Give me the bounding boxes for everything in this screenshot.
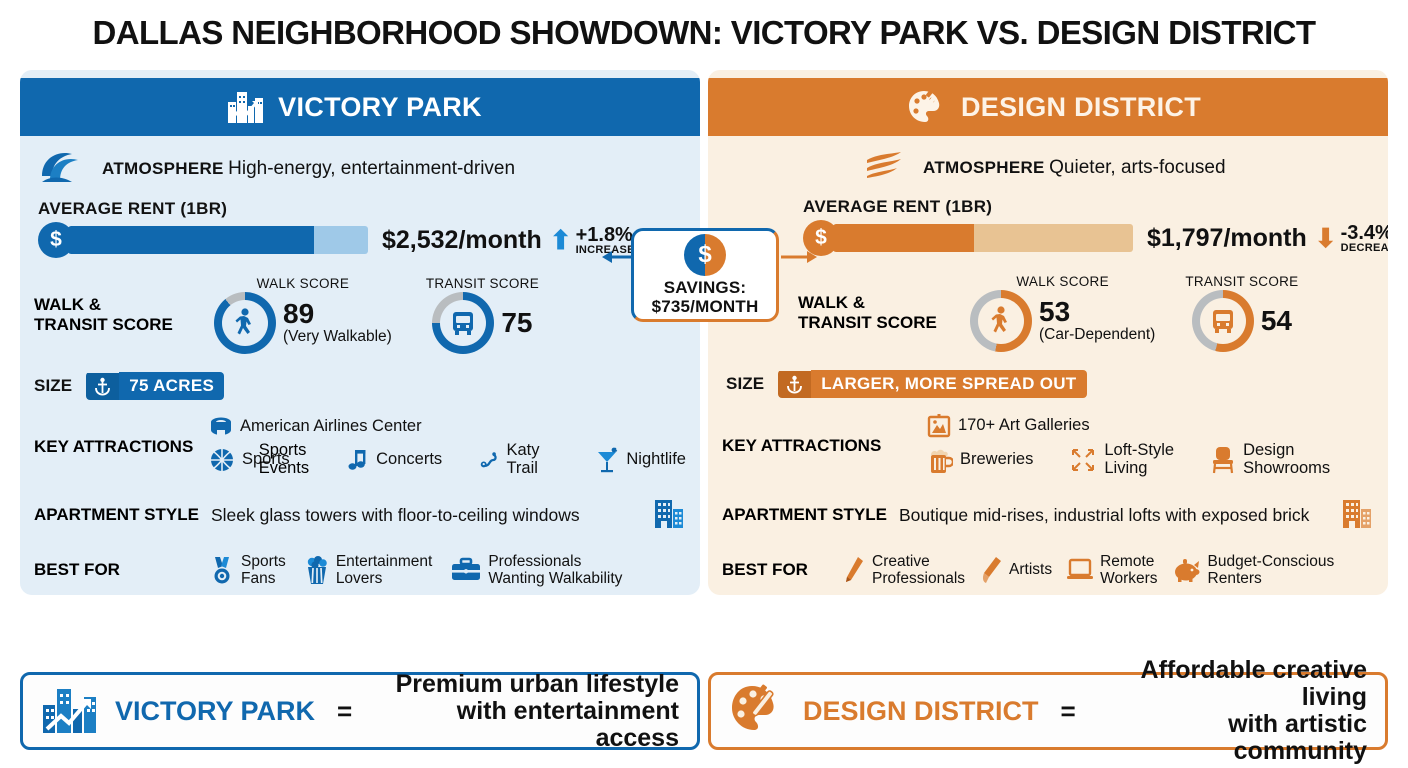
picture-frame-icon (927, 414, 951, 438)
transit-score-left: TRANSIT SCORE (426, 276, 539, 354)
anchor-icon (778, 371, 811, 398)
atmosphere-label-left: ATMOSPHERE (102, 159, 224, 178)
best-for-item: RemoteWorkers (1066, 553, 1157, 587)
rent-value-left: $2,532/month (382, 226, 542, 255)
rent-bar-right (833, 224, 1133, 252)
best-for-item: EntertainmentLovers (304, 553, 433, 587)
attraction-item: Nightlife (595, 447, 686, 473)
armchair-icon (1210, 445, 1236, 475)
size-row-left: SIZE 75 ACRES (20, 364, 700, 408)
palette-brush-icon (907, 89, 949, 125)
rent-trend-right: ⬇ -3.4% DECREASE (1315, 223, 1388, 254)
transit-score-right: TRANSIT SCORE (1185, 274, 1298, 352)
attraction-item: Breweries (927, 446, 1033, 474)
attraction-item: DesignShowrooms (1210, 442, 1330, 478)
atmosphere-row-right: ATMOSPHERE Quieter, arts-focused (708, 136, 1388, 195)
walk-transit-row-left: WALK &TRANSIT SCORE WALK SCORE (20, 268, 700, 364)
basketball-icon (209, 447, 235, 473)
savings-line1: SAVINGS: (664, 278, 747, 297)
attraction-item: American Airlines Center (209, 416, 422, 438)
expand-arrows-icon (1069, 446, 1097, 474)
summary-name-left: VICTORY PARK (115, 696, 315, 727)
size-row-right: SIZE LARGER, MORE SPREAD OUT (708, 362, 1388, 406)
wind-swirl-icon (863, 146, 909, 189)
best-for-row-left: BEST FOR SportsFans (20, 545, 700, 595)
key-attractions-label-left: KEY ATTRACTIONS (34, 437, 209, 457)
atmosphere-row-left: ATMOSPHERE High-energy, entertainment-dr… (20, 136, 700, 197)
savings-badge: $ SAVINGS: $735/MONTH (631, 228, 779, 322)
design-district-summary: DESIGN DISTRICT = Affordable creative li… (708, 672, 1388, 750)
walk-transit-row-right: WALK &TRANSIT SCORE WALK SCORE (708, 266, 1388, 362)
page-title: DALLAS NEIGHBORHOOD SHOWDOWN: VICTORY PA… (0, 14, 1408, 52)
walk-score-desc-left: (Very Walkable) (283, 328, 392, 345)
walk-score-right: WALK SCORE 53 (970, 274, 1155, 352)
attraction-item: Concerts (347, 448, 442, 472)
best-for-row-right: BEST FOR CreativeProfessionals (708, 545, 1388, 595)
rent-trend-pct-right: -3.4% (1341, 223, 1388, 243)
best-for-item: Budget-ConsciousRenters (1172, 553, 1335, 587)
pedestrian-icon (232, 308, 258, 338)
down-arrow-icon: ⬇ (1315, 225, 1337, 251)
design-district-header: DESIGN DISTRICT (708, 78, 1388, 136)
summary-equals-right: = (1061, 696, 1076, 727)
anchor-icon (86, 373, 119, 400)
victory-park-header: VICTORY PARK (20, 78, 700, 136)
walk-score-desc-right: (Car-Dependent) (1039, 326, 1155, 343)
savings-arrow-right (779, 246, 819, 268)
size-label-left: SIZE (34, 376, 72, 396)
city-skyline-chart-icon (226, 89, 266, 125)
size-chip-left: 75 ACRES (86, 372, 224, 400)
transit-score-value-right: 54 (1261, 307, 1292, 335)
walk-score-donut-right (970, 290, 1032, 352)
beer-mug-icon (927, 446, 953, 474)
atmosphere-label-right: ATMOSPHERE (923, 158, 1045, 177)
walk-score-left: WALK SCORE 89 (214, 276, 392, 354)
apartment-style-value-right: Boutique mid-rises, industrial lofts wit… (899, 505, 1340, 526)
walk-score-value-right: 53 (1039, 296, 1070, 327)
bus-icon (1208, 306, 1238, 336)
trail-map-icon (480, 448, 499, 472)
rent-trend-pct-left: +1.8% (576, 225, 635, 245)
rent-trend-label-right: DECREASE (1341, 243, 1388, 254)
design-district-panel: DESIGN DISTRICT ATMOSPHERE Quieter, arts… (708, 70, 1388, 595)
rent-label-left: AVERAGE RENT (1BR) (38, 199, 682, 219)
paintbrush-icon (979, 555, 1003, 585)
transit-score-caption-right: TRANSIT SCORE (1185, 274, 1298, 289)
size-label-right: SIZE (726, 374, 764, 394)
city-skyline-chart-icon (41, 683, 99, 740)
up-arrow-icon: ⬆ (550, 227, 572, 253)
palette-brush-icon (729, 683, 787, 740)
building-icon (1340, 496, 1374, 535)
summary-name-right: DESIGN DISTRICT (803, 696, 1039, 727)
rent-label-right: AVERAGE RENT (1BR) (803, 197, 1370, 217)
stadium-icon (209, 416, 233, 438)
key-attractions-row-left: KEY ATTRACTIONS American Airlines Center (20, 408, 700, 486)
design-district-title: DESIGN DISTRICT (961, 92, 1201, 123)
briefcase-icon (450, 557, 482, 583)
summary-desc-right: Affordable creative livingwith artistic … (1098, 657, 1367, 765)
best-for-label-right: BEST FOR (722, 560, 842, 580)
attraction-item: Katy Trail (480, 442, 557, 478)
cocktail-icon (595, 447, 619, 473)
apartment-style-label-right: APARTMENT STYLE (722, 505, 887, 525)
dollar-coin-icon-left: $ (38, 222, 74, 258)
laptop-icon (1066, 557, 1094, 583)
size-chip-right: LARGER, MORE SPREAD OUT (778, 370, 1086, 398)
music-note-icon (347, 448, 369, 472)
rent-bar-left (68, 226, 368, 254)
transit-score-caption-left: TRANSIT SCORE (426, 276, 539, 291)
best-for-item: Artists (979, 555, 1052, 585)
transit-score-donut-right (1192, 290, 1254, 352)
atmosphere-value-right: Quieter, arts-focused (1049, 157, 1225, 178)
infographic-root: DALLAS NEIGHBORHOOD SHOWDOWN: VICTORY PA… (0, 0, 1408, 768)
medal-icon (209, 555, 235, 585)
size-value-left: 75 ACRES (119, 372, 224, 400)
bus-icon (448, 308, 478, 338)
walk-transit-label-right: WALK &TRANSIT SCORE (798, 293, 958, 332)
wave-icon (38, 146, 88, 191)
walk-score-donut-left (214, 292, 276, 354)
rent-value-right: $1,797/month (1147, 224, 1307, 253)
attraction-line2: Events (259, 459, 309, 477)
walk-transit-label-left: WALK &TRANSIT SCORE (34, 295, 194, 334)
attraction-item: 170+ Art Galleries (927, 414, 1090, 438)
apartment-style-label-left: APARTMENT STYLE (34, 505, 199, 525)
apartment-style-value-left: Sleek glass towers with floor-to-ceiling… (211, 505, 652, 526)
atmosphere-value-left: High-energy, entertainment-driven (228, 158, 515, 179)
summary-equals-left: = (337, 696, 352, 727)
victory-park-panel: VICTORY PARK ATMOSPHERE High-energy, ent… (20, 70, 700, 595)
key-attractions-label-right: KEY ATTRACTIONS (722, 436, 897, 456)
savings-line2: $735/MONTH (652, 297, 759, 316)
size-value-right: LARGER, MORE SPREAD OUT (811, 370, 1086, 398)
attraction-item: Loft-StyleLiving (1069, 442, 1174, 478)
popcorn-icon (304, 555, 330, 585)
victory-park-title: VICTORY PARK (278, 92, 482, 123)
rent-row-left: AVERAGE RENT (1BR) $ $2,532/month ⬆ +1.8… (20, 197, 700, 268)
best-for-item: CreativeProfessionals (842, 553, 965, 587)
pencil-icon (842, 555, 866, 585)
apartment-style-row-left: APARTMENT STYLE Sleek glass towers with … (20, 486, 700, 545)
best-for-item: ProfessionalsWanting Walkability (450, 553, 622, 587)
key-attractions-row-right: KEY ATTRACTIONS 170+ Art Galleries (708, 406, 1388, 486)
building-icon (652, 496, 686, 535)
apartment-style-row-right: APARTMENT STYLE Boutique mid-rises, indu… (708, 486, 1388, 545)
walk-score-caption-left: WALK SCORE (257, 276, 350, 291)
walk-score-value-left: 89 (283, 298, 314, 329)
dollar-coin-icon: $ (684, 234, 726, 276)
best-for-item: SportsFans (209, 553, 286, 587)
best-for-label-left: BEST FOR (34, 560, 209, 580)
victory-park-summary: VICTORY PARK = Premium urban lifestylewi… (20, 672, 700, 750)
transit-score-value-left: 75 (501, 309, 532, 337)
pedestrian-icon (988, 306, 1014, 336)
summary-desc-left: Premium urban lifestylewith entertainmen… (374, 671, 679, 752)
transit-score-donut-left (432, 292, 494, 354)
piggy-bank-icon (1172, 556, 1202, 584)
walk-score-caption-right: WALK SCORE (1016, 274, 1109, 289)
attraction-line1: Sports (259, 441, 307, 459)
